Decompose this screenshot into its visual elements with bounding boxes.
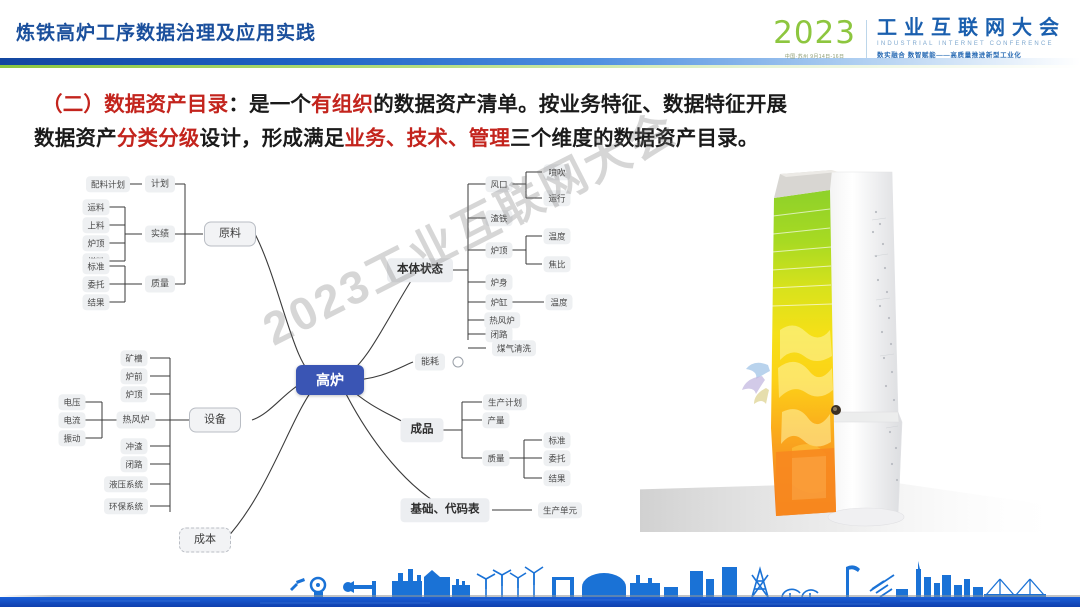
headline-term-classify: 分类分级 <box>117 127 200 150</box>
logo-year-block: 2023 中国·苏州 9月14日-16日 <box>773 18 866 60</box>
furnace-base-ring <box>828 508 904 526</box>
slide-root: 炼铁高炉工序数据治理及应用实践 2023 中国·苏州 9月14日-16日 工业互… <box>0 0 1080 607</box>
page-title: 炼铁高炉工序数据治理及应用实践 <box>16 18 316 45</box>
burden-texture <box>778 325 833 446</box>
node-yunxing[interactable]: 运行 <box>543 190 570 206</box>
node-weituo-raw[interactable]: 委托 <box>82 276 109 292</box>
headline-index: （二） <box>42 93 104 116</box>
node-zhendong[interactable]: 振动 <box>58 430 85 446</box>
node-chanliang[interactable]: 产量 <box>482 412 509 428</box>
node-penchui[interactable]: 喷吹 <box>543 164 570 180</box>
node-jihua[interactable]: 计划 <box>145 176 175 193</box>
node-biaozhun-fin[interactable]: 标准 <box>543 432 570 448</box>
node-chengpin[interactable]: 成品 <box>401 418 444 442</box>
node-yuanliao[interactable]: 原料 <box>204 222 256 247</box>
headline-term-organized: 有组织 <box>311 93 373 116</box>
headline: （二）数据资产目录：是一个有组织的数据资产清单。按业务特征、数据特征开展 数据资… <box>42 88 1052 156</box>
node-root-gaolu[interactable]: 高炉 <box>296 365 364 395</box>
footer-banner <box>0 545 1080 607</box>
node-huanbaoxitong[interactable]: 环保系统 <box>104 498 148 514</box>
node-bentizhuangtai[interactable]: 本体状态 <box>387 258 453 282</box>
node-luding-state[interactable]: 炉顶 <box>485 242 512 258</box>
logo-slogan: 数实融合 数智赋能——高质量推进新型工业化 <box>877 49 1066 59</box>
node-jieguo-fin[interactable]: 结果 <box>543 470 570 486</box>
node-weituo-fin[interactable]: 委托 <box>543 450 570 466</box>
node-jichu-daimabiao[interactable]: 基础、代码表 <box>401 498 490 522</box>
node-dianliu[interactable]: 电流 <box>58 412 85 428</box>
taphole-highlight <box>833 407 837 411</box>
headline-seg-1e: 的数据资产清单。按业务特征、数据特征开展 <box>373 93 787 116</box>
node-chongzha[interactable]: 冲渣 <box>120 438 147 454</box>
logo-text-block: 工业互联网大会 INDUSTRIAL INTERNET CONFERENCE 数… <box>877 18 1066 59</box>
headline-term-dimensions: 业务、技术、管理 <box>345 127 511 150</box>
node-yeyaxitong[interactable]: 液压系统 <box>104 476 148 492</box>
node-zhatie[interactable]: 渣铁 <box>485 210 512 226</box>
headline-seg-2c: 设计，形成满足 <box>200 127 345 150</box>
logo-name-cn: 工业互联网大会 <box>877 18 1066 39</box>
node-wendu-luding[interactable]: 温度 <box>543 228 570 244</box>
node-luqian[interactable]: 炉前 <box>120 368 147 384</box>
industry-silhouettes <box>290 561 1046 597</box>
node-fengkou[interactable]: 风口 <box>485 176 512 192</box>
headline-seg-2a: 数据资产 <box>34 127 117 150</box>
node-refenglu-eq[interactable]: 热风炉 <box>116 412 155 429</box>
node-shiji[interactable]: 实绩 <box>145 226 175 243</box>
blast-furnace-render <box>640 160 1070 560</box>
node-peiliaojihua[interactable]: 配料计划 <box>86 176 130 192</box>
furnace-joint-band <box>831 412 899 422</box>
node-jieguo-raw[interactable]: 结果 <box>82 294 109 310</box>
headline-seg-1c: ：是一个 <box>228 93 311 116</box>
footer-left-fade <box>0 545 300 597</box>
logo-year: 2023 <box>773 18 856 49</box>
footer-skyline <box>0 545 1080 607</box>
hearth-core <box>792 456 826 500</box>
node-lushen[interactable]: 炉身 <box>485 274 512 290</box>
node-lugang[interactable]: 炉缸 <box>485 294 512 310</box>
water-band <box>0 597 1080 607</box>
collapse-toggle-icon[interactable] <box>453 357 464 368</box>
node-biaozhun-raw[interactable]: 标准 <box>82 258 109 274</box>
logo-separator <box>866 20 867 58</box>
conference-logo: 2023 中国·苏州 9月14日-16日 工业互联网大会 INDUSTRIAL … <box>773 18 1066 60</box>
node-luding-raw[interactable]: 炉顶 <box>82 235 109 251</box>
node-luding-eq[interactable]: 炉顶 <box>120 386 147 402</box>
node-nenghao[interactable]: 能耗 <box>415 354 445 371</box>
node-dianya[interactable]: 电压 <box>58 394 85 410</box>
node-kuangcao[interactable]: 矿槽 <box>120 350 147 366</box>
headline-seg-2e: 三个维度的数据资产目录。 <box>510 127 758 150</box>
node-zhiliang-raw[interactable]: 质量 <box>145 276 175 293</box>
furnace-illustration <box>640 160 1070 560</box>
node-bilu-eq[interactable]: 闭路 <box>120 456 147 472</box>
node-wendu-lugang[interactable]: 温度 <box>545 294 572 310</box>
node-shebei[interactable]: 设备 <box>189 408 241 433</box>
node-shengchanjihua[interactable]: 生产计划 <box>483 394 527 410</box>
headline-line-2: 数据资产分类分级设计，形成满足业务、技术、管理三个维度的数据资产目录。 <box>34 122 1052 156</box>
node-shengchandanyuan[interactable]: 生产单元 <box>538 502 582 518</box>
node-jiaobi[interactable]: 焦比 <box>543 256 570 272</box>
logo-year-meta: 中国·苏州 9月14日-16日 <box>785 53 845 60</box>
furnace-shell <box>826 172 902 522</box>
header-divider-green <box>0 65 1080 68</box>
node-shangliao[interactable]: 上料 <box>82 217 109 233</box>
node-meiqiqingxi[interactable]: 煤气清洗 <box>492 340 536 356</box>
tuyere-spray <box>742 363 770 404</box>
logo-name-en: INDUSTRIAL INTERNET CONFERENCE <box>877 41 1066 47</box>
mindmap: 配料计划 计划 运料 上料 炉顶 煤粉 实绩 标准 委托 结果 质量 原料 矿槽… <box>30 162 650 552</box>
node-zhiliang-fin[interactable]: 质量 <box>482 450 509 466</box>
node-yunliao[interactable]: 运料 <box>82 199 109 215</box>
headline-term-catalog: 数据资产目录 <box>104 93 228 116</box>
